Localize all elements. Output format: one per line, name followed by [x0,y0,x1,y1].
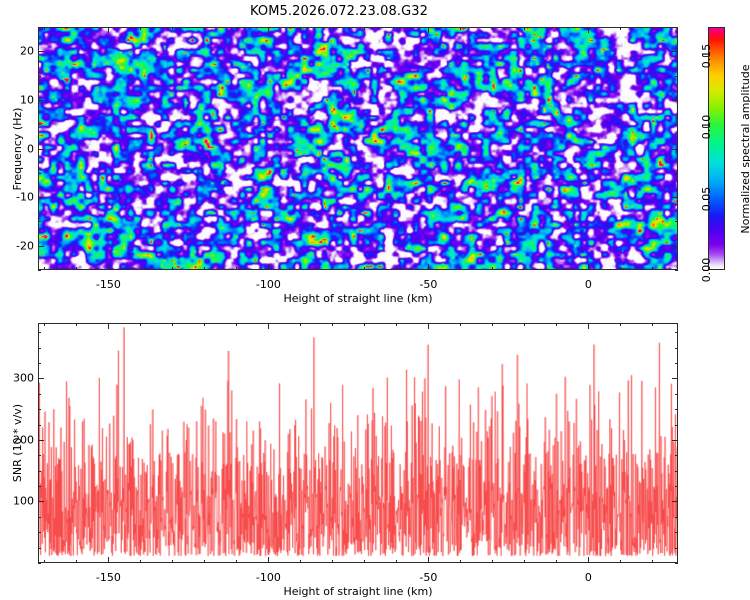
axis-tick-minor [524,323,525,326]
axis-tick-major [268,557,269,563]
axis-tick-major [268,27,269,33]
axis-tick-minor [675,348,678,349]
axis-tick-label-x: -150 [96,278,121,291]
axis-tick-label-x: 0 [585,571,592,584]
axis-tick-minor [300,560,301,563]
axis-tick-label-y: -10 [0,191,34,204]
axis-tick-minor [675,517,678,518]
axis-tick-minor [38,548,41,549]
colorbar-tick-label: 0.05 [700,186,713,211]
axis-tick-minor [38,486,41,487]
axis-tick-minor [675,532,678,533]
axis-tick-minor [675,27,678,28]
snr-y-axis-title: SNR (10 * v/v) [11,404,24,482]
axis-tick-minor [332,560,333,563]
colorbar-tick-label: 0.00 [700,258,713,283]
axis-tick-minor [460,560,461,563]
axis-tick-major [38,440,44,441]
axis-tick-minor [652,27,653,30]
snr-trace [39,324,677,562]
axis-tick-major [428,323,429,329]
axis-tick-minor [38,394,41,395]
axis-tick-minor [524,27,525,30]
axis-tick-label-y: 10 [0,93,34,106]
spectrogram-image [39,28,677,269]
axis-tick-minor [652,560,653,563]
axis-tick-minor [38,563,41,564]
axis-tick-minor [620,323,621,326]
axis-tick-minor [38,363,41,364]
axis-tick-major [268,264,269,270]
axis-tick-minor [675,173,678,174]
axis-tick-major [588,323,589,329]
axis-tick-major [672,100,678,101]
axis-tick-major [428,27,429,33]
axis-tick-minor [76,323,77,326]
axis-tick-minor [620,267,621,270]
axis-tick-minor [44,323,45,326]
axis-tick-minor [492,267,493,270]
axis-tick-major [108,264,109,270]
axis-tick-minor [675,221,678,222]
axis-tick-minor [236,267,237,270]
axis-tick-minor [204,323,205,326]
axis-tick-minor [675,455,678,456]
spectrogram-panel [38,27,678,270]
axis-tick-major [588,557,589,563]
axis-tick-major [38,51,44,52]
axis-tick-major [588,27,589,33]
snr-panel [38,323,678,563]
axis-tick-minor [172,27,173,30]
axis-tick-minor [675,409,678,410]
axis-tick-minor [675,394,678,395]
spectrogram-y-axis-title: Frequency (Hz) [11,107,24,190]
axis-tick-minor [140,560,141,563]
axis-tick-minor [332,323,333,326]
page-title: KOM5.2026.072.23.08.G32 [0,4,678,19]
axis-tick-major [268,323,269,329]
axis-tick-minor [364,323,365,326]
axis-tick-minor [524,267,525,270]
axis-tick-minor [652,323,653,326]
axis-tick-minor [38,124,41,125]
axis-tick-major [38,149,44,150]
axis-tick-major [672,149,678,150]
axis-tick-major [108,323,109,329]
axis-tick-minor [492,560,493,563]
axis-tick-minor [396,560,397,563]
axis-tick-minor [675,486,678,487]
axis-tick-minor [524,560,525,563]
axis-tick-label-x: -50 [419,571,437,584]
axis-tick-minor [556,560,557,563]
axis-tick-major [108,557,109,563]
axis-tick-minor [140,27,141,30]
axis-tick-minor [76,267,77,270]
axis-tick-label-y: 100 [0,495,34,508]
axis-tick-minor [396,323,397,326]
axis-tick-major [672,246,678,247]
axis-tick-major [38,100,44,101]
axis-tick-label-x: -50 [419,278,437,291]
axis-tick-major [588,264,589,270]
axis-tick-minor [460,27,461,30]
axis-tick-label-y: 300 [0,372,34,385]
axis-tick-minor [38,517,41,518]
axis-tick-minor [396,27,397,30]
axis-tick-minor [44,27,45,30]
axis-tick-minor [38,348,41,349]
axis-tick-minor [204,27,205,30]
axis-tick-minor [38,173,41,174]
axis-tick-minor [38,455,41,456]
axis-tick-minor [492,323,493,326]
axis-tick-minor [364,27,365,30]
axis-tick-label-y: -20 [0,239,34,252]
axis-tick-minor [38,27,41,28]
axis-tick-minor [38,270,41,271]
axis-tick-minor [38,425,41,426]
axis-tick-minor [460,323,461,326]
axis-tick-minor [675,548,678,549]
axis-tick-minor [675,563,678,564]
axis-tick-major [108,27,109,33]
colorbar-tick-label: 0.15 [700,43,713,68]
axis-tick-minor [675,363,678,364]
axis-tick-minor [38,76,41,77]
axis-tick-minor [204,267,205,270]
spectrogram-x-axis-title: Height of straight line (km) [283,292,432,305]
axis-tick-label-x: 0 [585,278,592,291]
axis-tick-minor [556,27,557,30]
axis-tick-minor [675,332,678,333]
axis-tick-major [672,51,678,52]
axis-tick-minor [364,560,365,563]
axis-tick-label-x: -100 [256,571,281,584]
axis-tick-minor [364,267,365,270]
axis-tick-minor [300,267,301,270]
axis-tick-minor [332,267,333,270]
axis-tick-major [428,557,429,563]
axis-tick-minor [236,560,237,563]
axis-tick-major [38,501,44,502]
axis-tick-major [428,264,429,270]
axis-tick-label-y: 20 [0,45,34,58]
axis-tick-label-x: -150 [96,571,121,584]
axis-tick-minor [140,323,141,326]
axis-tick-minor [38,471,41,472]
axis-tick-minor [332,27,333,30]
axis-tick-minor [38,409,41,410]
axis-tick-minor [76,560,77,563]
axis-tick-minor [300,323,301,326]
figure-root: KOM5.2026.072.23.08.G32 -150-100-500-20-… [0,0,750,600]
axis-tick-minor [76,27,77,30]
axis-tick-minor [492,27,493,30]
snr-x-axis-title: Height of straight line (km) [283,585,432,598]
axis-tick-minor [675,270,678,271]
axis-tick-minor [675,471,678,472]
axis-tick-minor [620,560,621,563]
axis-tick-major [38,197,44,198]
axis-tick-major [38,246,44,247]
axis-tick-major [672,501,678,502]
axis-tick-minor [38,221,41,222]
axis-tick-major [672,197,678,198]
axis-tick-minor [675,76,678,77]
axis-tick-label-x: -100 [256,278,281,291]
axis-tick-minor [236,323,237,326]
axis-tick-minor [675,425,678,426]
axis-tick-minor [38,532,41,533]
axis-tick-minor [172,323,173,326]
axis-tick-minor [140,267,141,270]
axis-tick-major [38,378,44,379]
axis-tick-minor [38,332,41,333]
axis-tick-minor [556,267,557,270]
axis-tick-minor [172,267,173,270]
axis-tick-minor [172,560,173,563]
axis-tick-minor [460,267,461,270]
axis-tick-major [672,440,678,441]
axis-tick-minor [204,560,205,563]
axis-tick-minor [44,560,45,563]
axis-tick-major [672,378,678,379]
axis-tick-minor [396,267,397,270]
axis-tick-minor [556,323,557,326]
axis-tick-minor [652,267,653,270]
axis-tick-minor [620,27,621,30]
axis-tick-minor [236,27,237,30]
colorbar-tick-label: 0.10 [700,115,713,140]
axis-tick-minor [300,27,301,30]
axis-tick-minor [44,267,45,270]
axis-tick-minor [675,124,678,125]
colorbar-title: Normalized spectral amplitude [739,64,750,233]
